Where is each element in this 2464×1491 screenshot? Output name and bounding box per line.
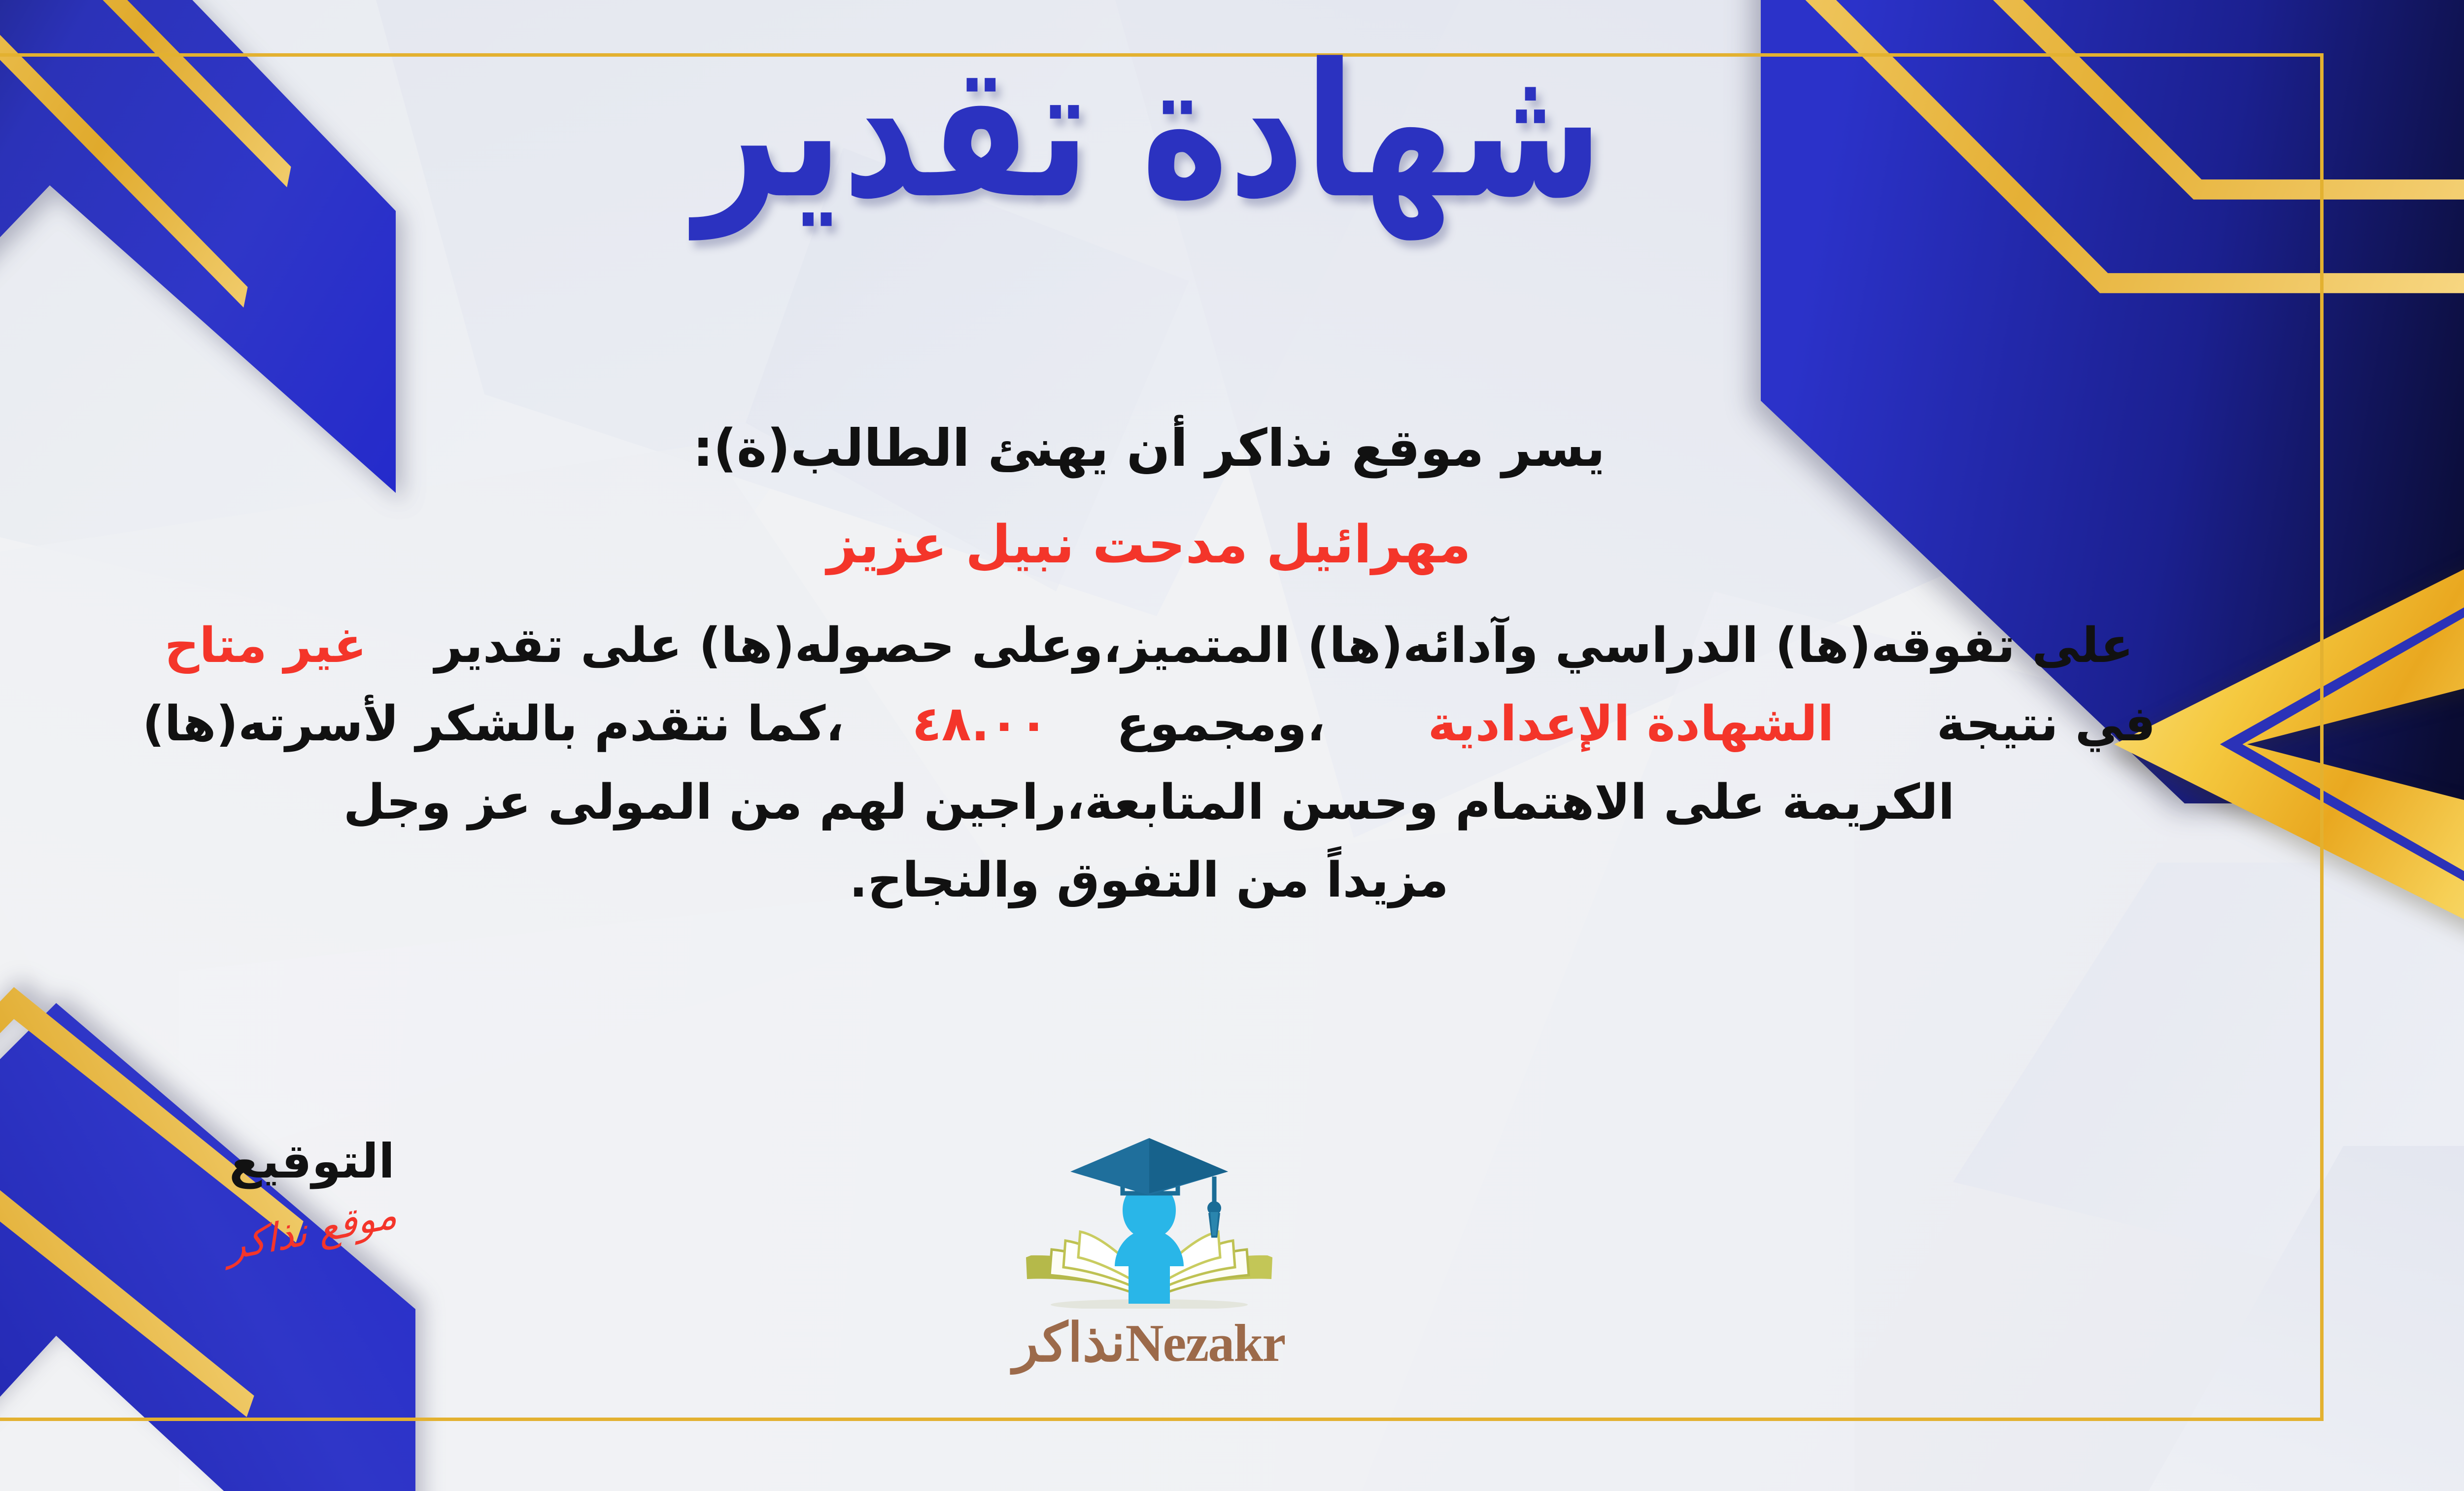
exam-name: الشهادة الإعدادية	[1428, 696, 1834, 752]
signature-mark: موقع نذاكر	[225, 1192, 399, 1270]
closing-line: مزيداً من التفوق والنجاح.	[0, 841, 2316, 920]
gratitude-line: الكريمة على الاهتمام وحسن المتابعة،راجين…	[0, 763, 2316, 842]
grade-value: غير متاح	[165, 618, 367, 674]
brand-logo: Nezakrنذاكر	[962, 1131, 1336, 1374]
logo-mark	[996, 1131, 1302, 1309]
logo-graphic	[996, 1131, 1302, 1309]
greeting-line: يسر موقع نذاكر أن يهنئ الطالب(ة):	[0, 409, 2316, 487]
certificate-page: شهادة تقدير يسر موقع نذاكر أن يهنئ الطال…	[0, 0, 2464, 1491]
logo-latin-text: Nezakr	[1125, 1314, 1285, 1373]
achievement-text: على تفوقه(ها) الدراسي وآدائه(ها) المتميز…	[435, 618, 2133, 674]
achievement-line: على تفوقه(ها) الدراسي وآدائه(ها) المتميز…	[0, 607, 2316, 685]
exam-prefix: في نتيجة	[1937, 696, 2156, 752]
signature-label: التوقيع	[139, 1134, 484, 1189]
certificate-title: شهادة تقدير	[0, 35, 2464, 229]
certificate-body: يسر موقع نذاكر أن يهنئ الطالب(ة): مهرائي…	[0, 409, 2316, 920]
total-score: ٤٨.٠٠	[912, 696, 1049, 752]
student-name: مهرائيل مدحت نبيل عزيز	[0, 505, 2316, 584]
signature-block: التوقيع موقع نذاكر	[139, 1134, 484, 1253]
thanks-text: ،كما نتقدم بالشكر لأسرته(ها)	[142, 696, 844, 752]
total-label: ،ومجموع	[1117, 696, 1326, 752]
exam-result-line: في نتيجة الشهادة الإعدادية ،ومجموع ٤٨.٠٠…	[0, 685, 2316, 763]
certificate-content: شهادة تقدير يسر موقع نذاكر أن يهنئ الطال…	[0, 0, 2464, 1491]
logo-arabic-text: نذاكر	[1013, 1312, 1126, 1374]
logo-wordmark: Nezakrنذاكر	[962, 1312, 1336, 1374]
